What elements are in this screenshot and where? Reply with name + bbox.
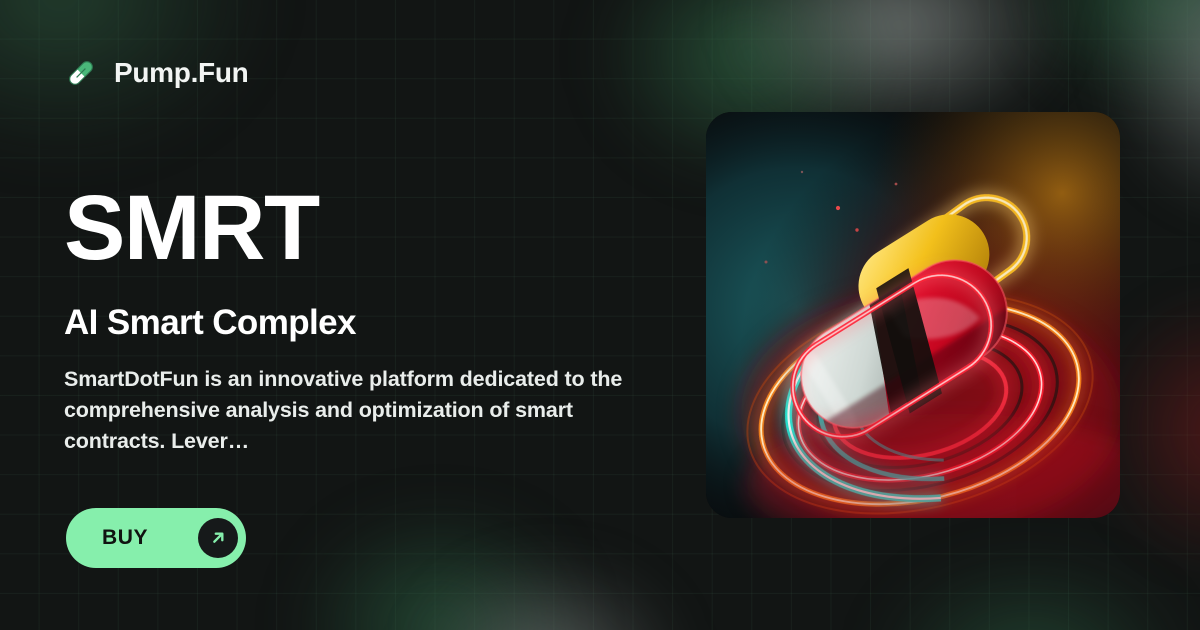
share-card: Pump.Fun SMRT AI Smart Complex SmartDotF…: [0, 0, 1200, 630]
background-blob-gray-right: [1110, 0, 1200, 210]
background-blob-green-right: [1020, 0, 1200, 110]
token-name: AI Smart Complex: [64, 302, 356, 343]
brand-header[interactable]: Pump.Fun: [64, 56, 248, 90]
token-artwork: [706, 112, 1120, 518]
content-column: Pump.Fun SMRT AI Smart Complex SmartDotF…: [64, 0, 684, 630]
arrow-up-right-icon: [198, 518, 238, 558]
buy-button[interactable]: BUY: [66, 508, 246, 568]
buy-button-label: BUY: [102, 526, 148, 550]
capsule-pill-icon: [64, 56, 98, 90]
token-description: SmartDotFun is an innovative platform de…: [64, 364, 654, 457]
background-blob-green-bottom-middle: [880, 560, 1180, 630]
brand-name: Pump.Fun: [114, 57, 248, 89]
token-ticker: SMRT: [64, 182, 319, 274]
